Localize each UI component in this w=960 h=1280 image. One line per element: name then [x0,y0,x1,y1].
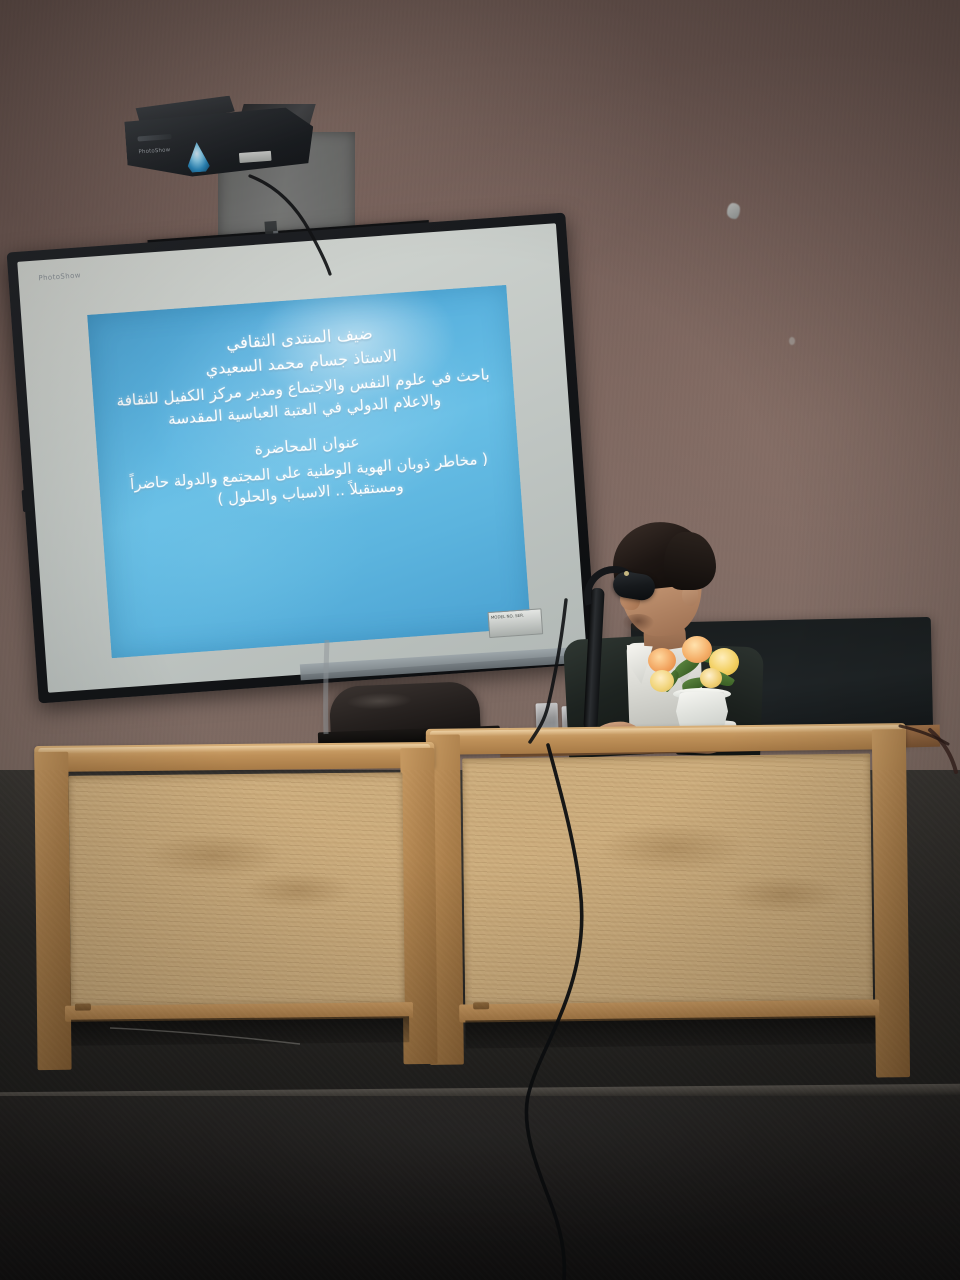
flower [700,668,722,688]
bench-rail-highlight [38,744,430,754]
interactive-whiteboard[interactable]: PhotoShow ضيف المنتدى الثقافي الاستاذ جس… [7,213,598,704]
bench-top-rail [426,723,906,755]
slide-text-block: ضيف المنتدى الثقافي الاستاذ جسام محمد ال… [87,285,531,658]
floor-texture [0,770,960,1280]
wall-blemish-small [789,337,795,345]
projected-slide: ضيف المنتدى الثقافي الاستاذ جسام محمد ال… [87,285,531,658]
whiteboard-brand-label: PhotoShow [38,271,81,282]
whiteboard-pen-clip [22,489,34,512]
flower [682,636,712,663]
bench-top-rail [34,742,434,772]
flower [650,670,674,692]
whiteboard-serial-sticker: MODEL NO. SER. [487,608,543,638]
whiteboard-surface[interactable]: PhotoShow ضيف المنتدى الثقافي الاستاذ جس… [17,223,587,693]
wall-blemish [727,203,740,219]
microphone-indicator-icon [624,571,629,576]
photo-scene: PhotoShow PhotoShow ضيف المنتدى الثقافي … [0,0,960,1280]
hair-back [664,532,716,590]
chair-highlight [347,692,412,711]
projector[interactable]: PhotoShow [123,89,329,193]
